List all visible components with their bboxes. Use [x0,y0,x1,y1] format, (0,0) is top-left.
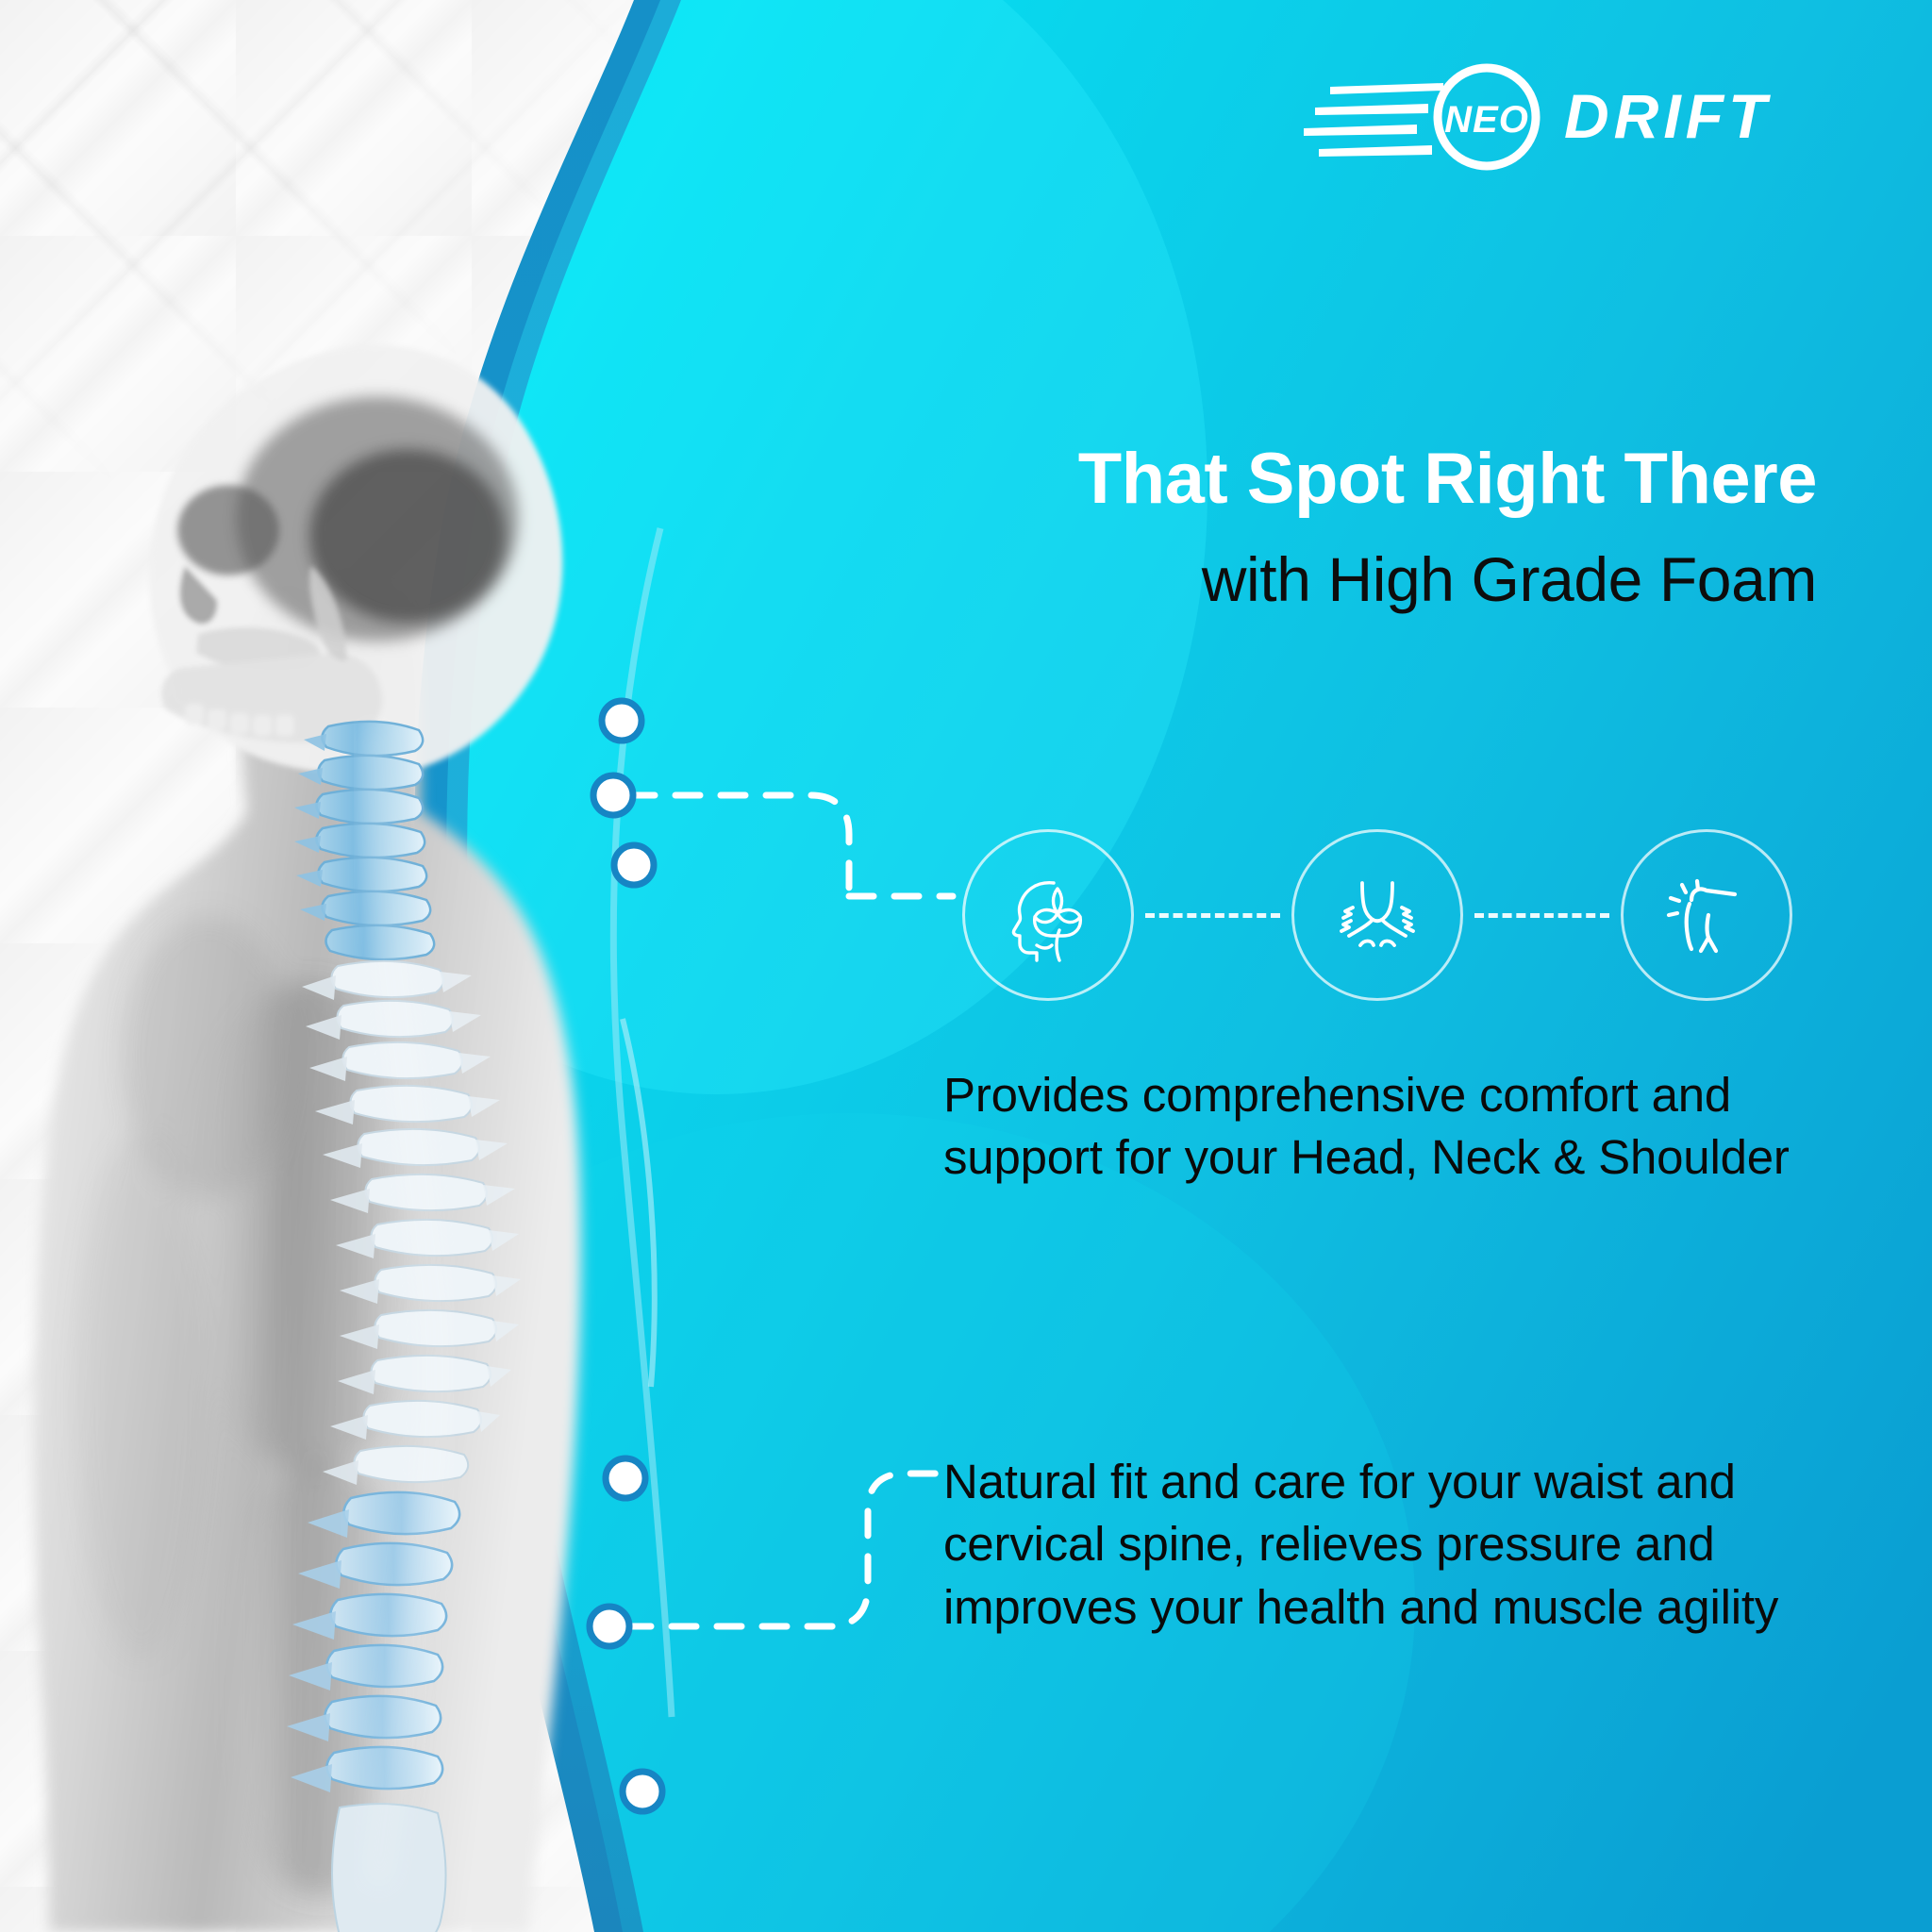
page-title: That Spot Right There [547,441,1868,516]
infographic-canvas: NEO DRIFT That Spot Right There with Hig… [0,0,1932,1932]
dashed-separator [1145,913,1280,918]
feature-icon-row [962,830,1792,1000]
logo-neo-text: NEO [1444,99,1529,141]
page-subtitle: with High Grade Foam [547,547,1868,613]
dashed-separator [1474,913,1609,918]
shoulder-posture-icon[interactable] [1621,829,1792,1001]
feature-paragraph-1: Provides comprehensive comfort and suppo… [943,1064,1830,1190]
feature-paragraph-2: Natural fit and care for your waist and … [943,1451,1896,1639]
neck-pain-relief-icon[interactable] [1291,829,1463,1001]
logo-drift-text: DRIFT [1564,81,1771,151]
head-lotus-relaxation-icon[interactable] [962,829,1134,1001]
neo-drift-logo: NEO DRIFT [1302,58,1830,172]
human-spine-xray-figure [0,283,924,1932]
